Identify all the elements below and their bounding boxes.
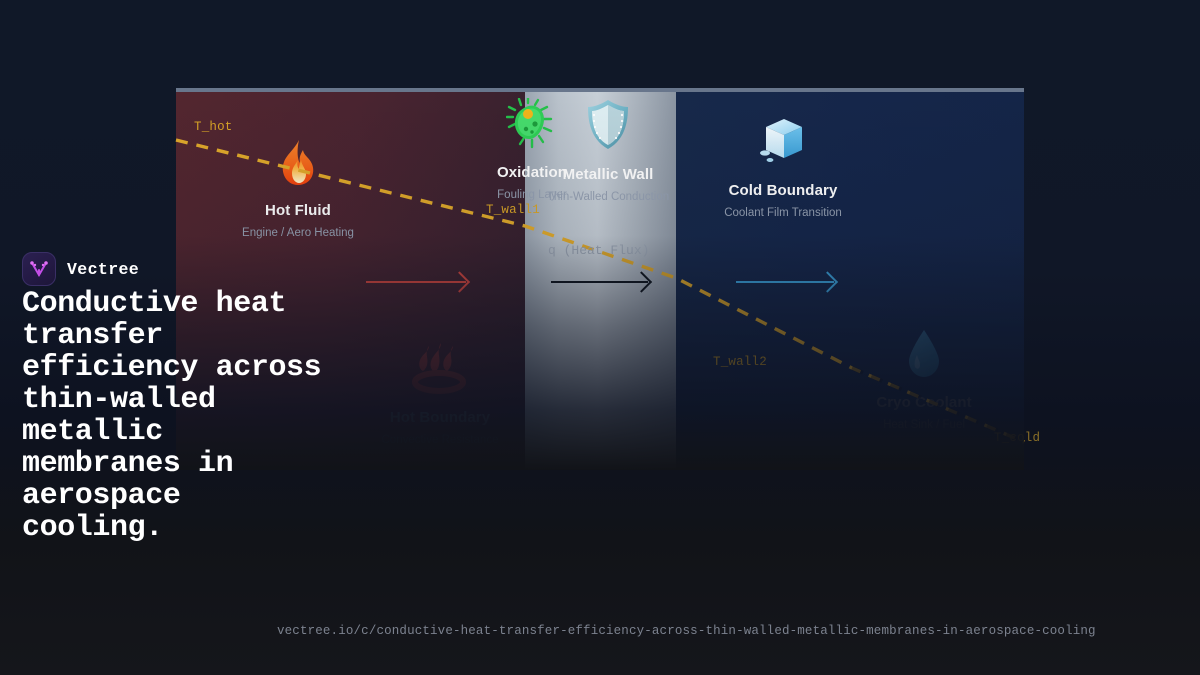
slide-canvas: Hot Fluid Engine / Aero Heating	[0, 0, 1200, 675]
label-t-wall2: T_wall2	[713, 355, 767, 369]
brand: Vectree	[22, 252, 139, 286]
page-url: vectree.io/c/conductive-heat-transfer-ef…	[277, 624, 1096, 638]
page-title: Conductive heat transfer efficiency acro…	[22, 288, 322, 544]
label-t-cold: T_cold	[994, 431, 1040, 445]
label-t-wall1: T_wall1	[486, 203, 540, 217]
label-t-hot: T_hot	[194, 120, 233, 134]
brand-name: Vectree	[67, 260, 139, 279]
vectree-v-logo-icon	[22, 252, 56, 286]
label-heat-flux: q (Heat Flux)	[548, 243, 649, 258]
